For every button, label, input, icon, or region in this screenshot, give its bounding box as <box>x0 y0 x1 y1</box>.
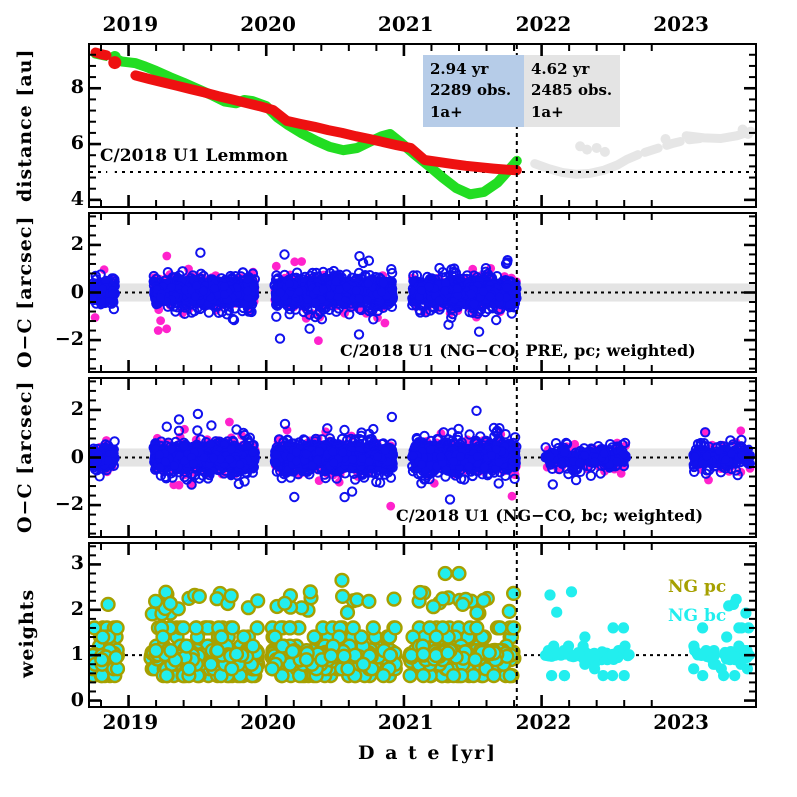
y-tick-panel2-0: 2 <box>71 233 84 255</box>
x-tick-top-2019: 2019 <box>103 12 159 36</box>
x-tick-bottom-2023: 2023 <box>653 710 709 734</box>
ng-pc-points <box>90 586 520 683</box>
y-tick-panel1-1: 6 <box>71 132 84 154</box>
x-tick-top-2022: 2022 <box>516 12 572 36</box>
y-tick-panel4-3: 0 <box>71 689 84 711</box>
legend-ng-bc: NG bc <box>668 606 726 626</box>
y-tick-panel1-0: 8 <box>71 76 84 98</box>
x-tick-bottom-2019: 2019 <box>103 710 159 734</box>
y-tick-panel1-2: 4 <box>71 188 84 210</box>
panel-oc-pre-pc-ylabel: O−C [arcsec] <box>14 218 36 368</box>
y-tick-panel4-1: 2 <box>71 598 84 620</box>
ghost-curves <box>535 125 753 175</box>
weights-scatter <box>90 544 755 706</box>
panel-distance-annotation: C/2018 U1 Lemmon <box>100 146 288 166</box>
x-tick-top-2023: 2023 <box>653 12 709 36</box>
legend-post-box: 4.62 yr 2485 obs. 1a+ <box>524 55 620 127</box>
y-tick-panel3-0: 2 <box>71 398 84 420</box>
y-tick-panel2-2: −2 <box>55 328 84 350</box>
y-tick-panel4-2: 1 <box>71 643 84 665</box>
panel-weights-plotarea <box>90 544 755 706</box>
y-tick-panel3-2: −2 <box>55 493 84 515</box>
x-tick-bottom-2022: 2022 <box>516 710 572 734</box>
weight-outlier <box>439 567 452 580</box>
x-tick-bottom-2020: 2020 <box>240 710 296 734</box>
panel-oc-bc-annotation: C/2018 U1 (NG−CO, bc; weighted) <box>396 506 703 525</box>
panel-oc-bc-ylabel: O−C [arcsec] <box>14 383 36 533</box>
panel-oc-pre-pc-annotation: C/2018 U1 (NG−CO, PRE, pc; weighted) <box>340 341 696 360</box>
weight-outlier <box>453 567 466 580</box>
dense-core <box>270 442 397 477</box>
panel-distance-ylabel: distance [au] <box>14 52 36 202</box>
x-tick-top-2021: 2021 <box>378 12 434 36</box>
x-axis-title: D a t e [yr] <box>358 742 497 764</box>
y-tick-panel3-1: 0 <box>71 446 84 468</box>
panel-weights-ylabel: weights <box>16 578 38 678</box>
weight-outlier <box>336 574 349 587</box>
ng-bc-points <box>540 586 755 681</box>
y-tick-panel2-1: 0 <box>71 281 84 303</box>
figure-root: 20192020202120222023 distance [au] C/201… <box>0 0 797 797</box>
legend-ng-pc: NG pc <box>668 577 726 597</box>
x-tick-top-2020: 2020 <box>240 12 296 36</box>
x-tick-bottom-2021: 2021 <box>378 710 434 734</box>
dense-core <box>271 275 397 309</box>
legend-pre-box: 2.94 yr 2289 obs. 1a+ <box>423 55 524 127</box>
y-tick-panel4-0: 3 <box>71 552 84 574</box>
red-curve-seg-0 <box>96 53 107 56</box>
